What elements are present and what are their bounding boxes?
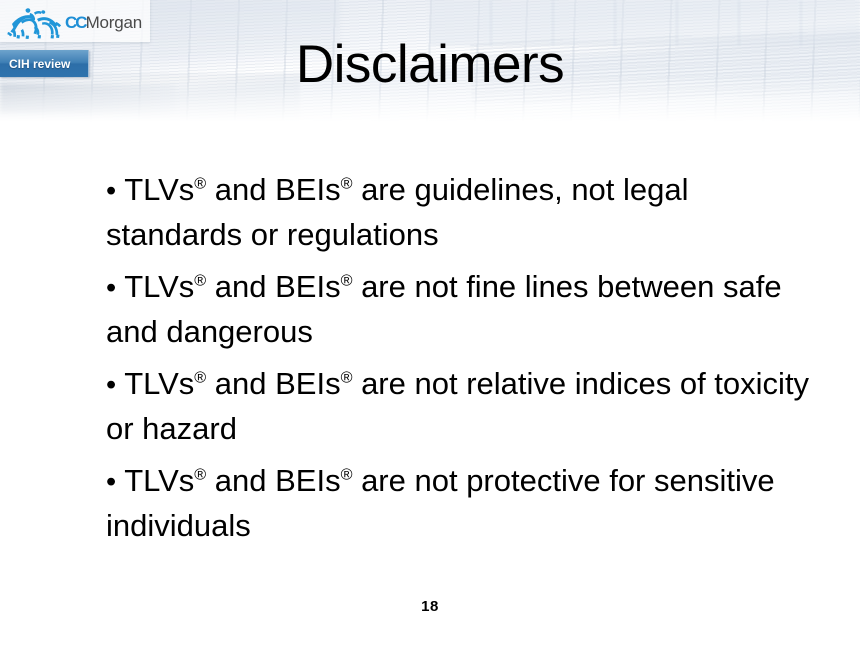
registered-trademark-icon: ® (341, 175, 353, 193)
registered-trademark-icon: ® (341, 369, 353, 387)
bullet-text: and BEIs (206, 463, 340, 498)
bullet-marker-icon: • (106, 272, 116, 304)
bullet-item: • TLVs® and BEIs® are guidelines, not le… (106, 168, 822, 257)
registered-trademark-icon: ® (341, 272, 353, 290)
presentation-slide: CCMorgan CIH review Disclaimers • TLVs® … (0, 0, 860, 650)
company-wordmark: CCMorgan (65, 14, 142, 31)
bullet-item: • TLVs® and BEIs® are not protective for… (106, 459, 822, 548)
registered-trademark-icon: ® (194, 272, 206, 290)
bullet-text: TLVs (124, 269, 194, 304)
bullet-text: TLVs (124, 172, 194, 207)
bullet-marker-icon: • (106, 175, 116, 207)
bullet-text: and BEIs (206, 269, 340, 304)
bullet-marker-icon: • (106, 466, 116, 498)
bullet-item: • TLVs® and BEIs® are not fine lines bet… (106, 265, 822, 354)
bullet-text: TLVs (124, 463, 194, 498)
page-number: 18 (0, 598, 860, 615)
bullet-marker-icon: • (106, 369, 116, 401)
bullet-list: • TLVs® and BEIs® are guidelines, not le… (106, 168, 822, 556)
registered-trademark-icon: ® (194, 466, 206, 484)
page-title: Disclaimers (0, 36, 860, 93)
wordmark-cc: CC (65, 13, 86, 32)
registered-trademark-icon: ® (341, 466, 353, 484)
bullet-text: and BEIs (206, 366, 340, 401)
bullet-item: • TLVs® and BEIs® are not relative indic… (106, 362, 822, 451)
wordmark-morgan: Morgan (86, 13, 142, 32)
bullet-text: and BEIs (206, 172, 340, 207)
registered-trademark-icon: ® (194, 369, 206, 387)
bullet-text: TLVs (124, 366, 194, 401)
registered-trademark-icon: ® (194, 175, 206, 193)
